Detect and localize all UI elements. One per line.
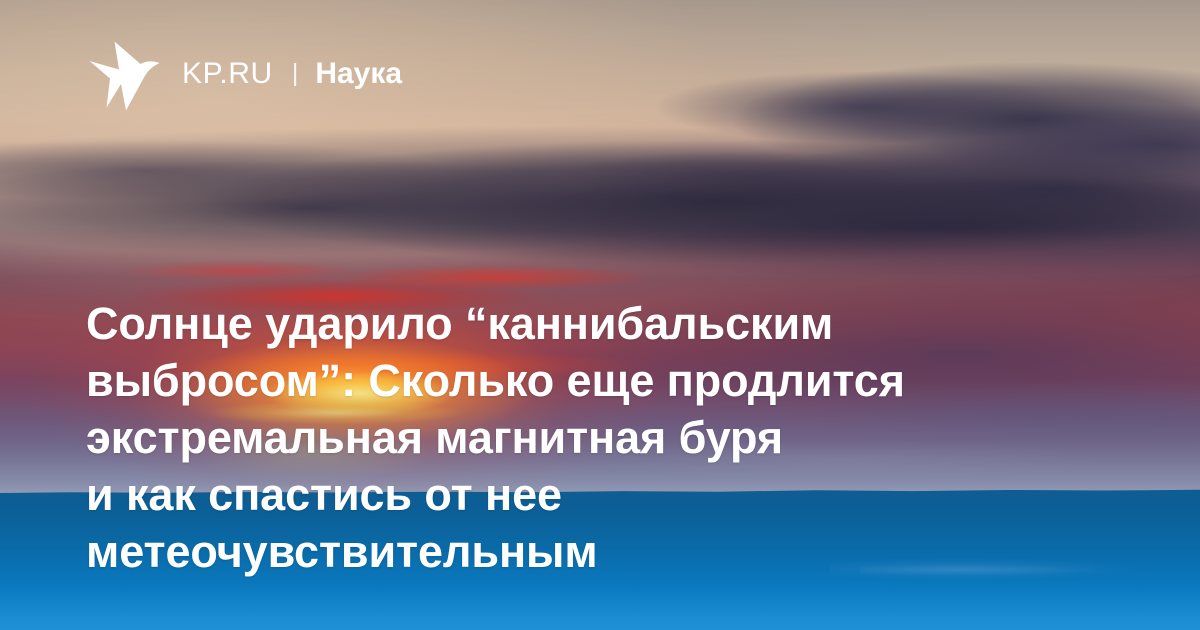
headline-line-4: и как спастись от нее [86, 466, 1106, 523]
headline-line-5: метеочувствительным [86, 523, 1106, 580]
swallow-bird-icon[interactable] [88, 36, 162, 112]
header-separator: | [292, 61, 299, 86]
headline-title: Солнце ударило “каннибальским выбросом”:… [86, 295, 1106, 580]
site-header: KP.RU | Наука [88, 36, 402, 112]
headline-line-3: экстремальная магнитная буря [86, 409, 1106, 466]
section-name[interactable]: Наука [315, 59, 402, 89]
brand-name[interactable]: KP.RU [182, 59, 273, 89]
headline-line-1: Солнце ударило “каннибальским [86, 295, 1106, 352]
share-card: KP.RU | Наука Солнце ударило “каннибальс… [0, 0, 1200, 630]
headline-line-2: выбросом”: Сколько еще продлится [86, 352, 1106, 409]
